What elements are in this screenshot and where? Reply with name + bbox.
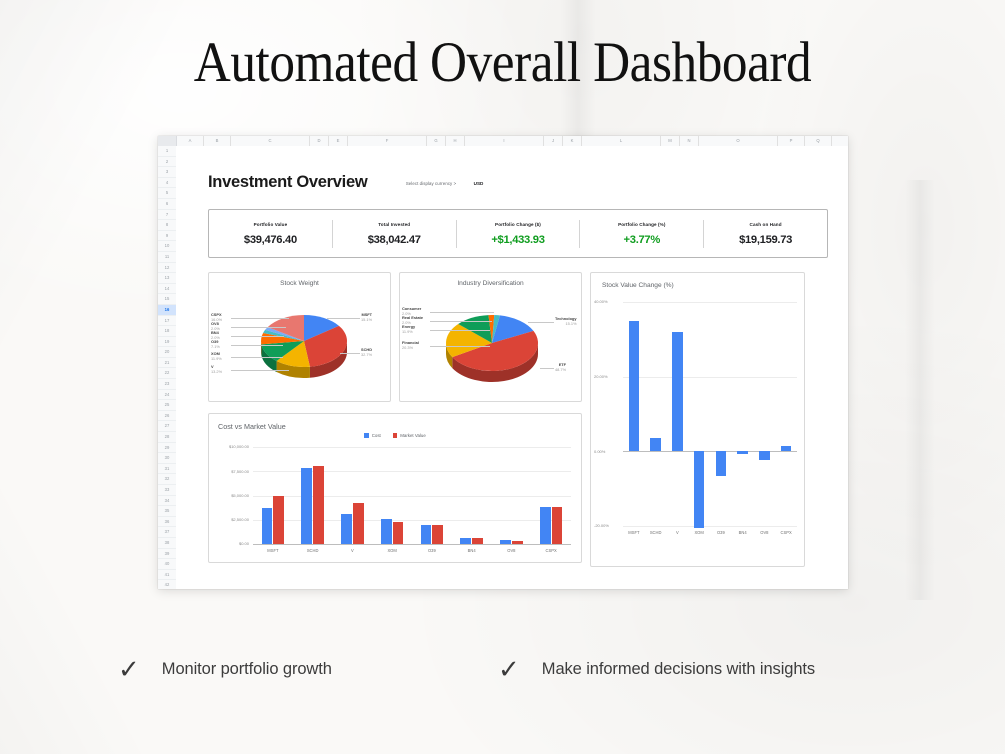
pie-label-percent: 15.1% <box>555 322 577 327</box>
x-axis-tick-label: XOM <box>372 548 412 553</box>
row-header-6[interactable]: 6 <box>158 199 176 210</box>
x-axis-tick-label: V <box>333 548 373 553</box>
bar-XOM[interactable] <box>694 451 704 528</box>
x-axis-tick-label: XOM <box>688 530 710 535</box>
column-header-Q[interactable]: Q <box>805 136 832 146</box>
chart-title-stock-weight: Stock Weight <box>209 280 390 287</box>
kpi-label: Cash on Hand <box>704 222 827 227</box>
row-header-25[interactable]: 25 <box>158 400 176 411</box>
dashboard-content: Investment Overview Select display curre… <box>208 172 828 567</box>
kpi-value: +3.77% <box>580 234 703 246</box>
bar-MSFT-cost[interactable] <box>262 508 273 544</box>
pie-leader-line <box>231 327 286 328</box>
row-header-18[interactable]: 18 <box>158 326 176 337</box>
pie-label-o39: O397.1% <box>211 340 220 349</box>
column-header-J[interactable]: J <box>544 136 563 146</box>
row-header-24[interactable]: 24 <box>158 390 176 401</box>
bar-XOM-market-value[interactable] <box>393 522 404 544</box>
row-header-40[interactable]: 40 <box>158 559 176 570</box>
x-axis-tick-label: OV8 <box>492 548 532 553</box>
pie-chart-stock-weight[interactable]: CSPX16.0%OV82.0%BN42.0%O397.1%XOM11.9%V1… <box>209 291 390 399</box>
y-axis-tick-label: $0.00 <box>213 541 249 546</box>
row-header-8[interactable]: 8 <box>158 220 176 231</box>
kpi-card-2: Portfolio Change ($)+$1,433.93 <box>457 220 581 248</box>
currency-selector[interactable]: Select display currency > USD <box>406 172 484 193</box>
bar-OV8-cost[interactable] <box>500 540 511 544</box>
row-header-7[interactable]: 7 <box>158 210 176 221</box>
y-axis-tick-label: $7,500.00 <box>213 469 249 474</box>
bar-BN4-cost[interactable] <box>460 538 471 544</box>
pie-leader-line <box>528 322 554 323</box>
bullet-item: ✓ Make informed decisions with insights <box>498 656 815 682</box>
bar-V-cost[interactable] <box>341 514 352 544</box>
kpi-card-0: Portfolio Value$39,476.40 <box>209 220 333 248</box>
pie-label-etf: ETF48.7% <box>555 363 566 372</box>
kpi-value: +$1,433.93 <box>457 234 580 246</box>
x-axis-tick-label: CSPX <box>775 530 797 535</box>
bar-BN4[interactable] <box>737 451 747 454</box>
kpi-label: Portfolio Value <box>209 222 332 227</box>
column-header-A[interactable]: A <box>177 136 204 146</box>
bullet-item: ✓ Monitor portfolio growth <box>118 656 332 682</box>
pie-label-energy: Energy11.9% <box>402 325 415 334</box>
row-header-38[interactable]: 38 <box>158 538 176 549</box>
row-header-26[interactable]: 26 <box>158 411 176 422</box>
chart-card-cost-vs-market[interactable]: Cost vs Market Value CostMarket Value $0… <box>208 413 582 563</box>
dashboard-header-row: Investment Overview Select display curre… <box>208 172 828 193</box>
y-axis-tick-label: -20.00% <box>594 523 609 528</box>
kpi-card-3: Portfolio Change (%)+3.77% <box>580 220 704 248</box>
column-header-O[interactable]: O <box>699 136 778 146</box>
row-header-13[interactable]: 13 <box>158 273 176 284</box>
pie-label-financial: Financial20.3% <box>402 341 419 350</box>
bar-chart-cost-vs-market[interactable]: $0.00$2,500.00$5,000.00$7,500.00$10,000.… <box>209 414 581 562</box>
kpi-label: Total Invested <box>333 222 456 227</box>
sheet-grid[interactable]: Investment Overview Select display curre… <box>176 146 848 589</box>
x-axis-tick-label: O39 <box>710 530 732 535</box>
bar-CSPX-market-value[interactable] <box>552 507 563 544</box>
row-header-33[interactable]: 33 <box>158 485 176 496</box>
pie-leader-line <box>231 318 289 319</box>
chart-card-stock-value-change[interactable]: Stock Value Change (%) 40.00%20.00%0.00%… <box>590 272 805 567</box>
x-axis-tick-label: BN4 <box>452 548 492 553</box>
column-header-R[interactable]: R <box>832 136 848 146</box>
y-axis-tick-label: 40.00% <box>594 299 608 304</box>
row-header-34[interactable]: 34 <box>158 496 176 507</box>
row-header-4[interactable]: 4 <box>158 178 176 189</box>
pie-label-percent: 20.3% <box>402 346 419 351</box>
column-header-K[interactable]: K <box>563 136 582 146</box>
bar-CSPX[interactable] <box>781 446 791 452</box>
column-header-F[interactable]: F <box>348 136 427 146</box>
column-header-M[interactable]: M <box>661 136 680 146</box>
row-header-39[interactable]: 39 <box>158 549 176 560</box>
row-header-3[interactable]: 3 <box>158 167 176 178</box>
pie-label-technology: Technology15.1% <box>555 317 577 326</box>
pie-leader-line <box>430 330 490 331</box>
bar-CSPX-cost[interactable] <box>540 507 551 544</box>
row-header-22[interactable]: 22 <box>158 368 176 379</box>
dashboard-heading: Investment Overview <box>208 173 367 192</box>
pie-label-percent: 13.2% <box>211 370 222 375</box>
kpi-value: $19,159.73 <box>704 234 827 246</box>
row-header-9[interactable]: 9 <box>158 231 176 242</box>
x-axis-tick-label: O39 <box>412 548 452 553</box>
bar-MSFT-market-value[interactable] <box>273 496 284 544</box>
kpi-label: Portfolio Change (%) <box>580 222 703 227</box>
y-axis-tick-label: $5,000.00 <box>213 493 249 498</box>
row-header-17[interactable]: 17 <box>158 316 176 327</box>
pie-leader-line <box>540 368 554 369</box>
column-header-D[interactable]: D <box>310 136 329 146</box>
x-axis-tick-label: MSFT <box>253 548 293 553</box>
column-header-G[interactable]: G <box>427 136 446 146</box>
pie-leader-line <box>430 312 494 313</box>
x-axis-tick-label: V <box>667 530 689 535</box>
gridline <box>623 526 797 527</box>
pie-leader-line <box>231 357 283 358</box>
pie-label-percent: 15.1% <box>361 318 372 323</box>
row-header-27[interactable]: 27 <box>158 421 176 432</box>
row-header-5[interactable]: 5 <box>158 188 176 199</box>
row-header-16[interactable]: 16 <box>158 305 176 316</box>
bar-OV8-market-value[interactable] <box>512 541 523 544</box>
row-header-31[interactable]: 31 <box>158 464 176 475</box>
pie-leader-line <box>340 353 360 354</box>
chart-card-stock-weight[interactable]: Stock Weight CSPX16.0%OV82.0%BN42.0%O397… <box>208 272 391 402</box>
check-icon: ✓ <box>118 656 140 682</box>
bar-OV8[interactable] <box>759 451 769 459</box>
column-header-N[interactable]: N <box>680 136 699 146</box>
pie-leader-line <box>327 318 360 319</box>
y-axis-tick-label: 0.00% <box>594 449 605 454</box>
pie-svg <box>400 291 581 399</box>
bullet-text: Make informed decisions with insights <box>542 660 815 679</box>
row-header-19[interactable]: 19 <box>158 337 176 348</box>
pie-label-percent: 7.1% <box>211 345 220 350</box>
row-header-35[interactable]: 35 <box>158 506 176 517</box>
column-header-C[interactable]: C <box>231 136 310 146</box>
pie-leader-line <box>430 346 490 347</box>
pie-chart-industry-diversification[interactable]: Consumer2.0%Real Estate2.0%Energy11.9%Fi… <box>400 291 581 399</box>
bar-BN4-market-value[interactable] <box>472 538 483 544</box>
pie-label-v: V13.2% <box>211 365 222 374</box>
kpi-card-4: Cash on Hand$19,159.73 <box>704 220 827 248</box>
x-axis-tick-label: CSPX <box>531 548 571 553</box>
column-header-I[interactable]: I <box>465 136 544 146</box>
column-header-B[interactable]: B <box>204 136 231 146</box>
row-header-2[interactable]: 2 <box>158 157 176 168</box>
paper-crease <box>905 180 935 600</box>
y-axis-tick-label: 20.00% <box>594 374 608 379</box>
pie-label-percent: 32.7% <box>361 353 372 358</box>
bar-SCHD-market-value[interactable] <box>313 466 324 544</box>
gridline <box>623 302 797 303</box>
bar-XOM-cost[interactable] <box>381 519 392 544</box>
gridline <box>623 377 797 378</box>
row-header-20[interactable]: 20 <box>158 347 176 358</box>
row-header-21[interactable]: 21 <box>158 358 176 369</box>
pie-label-xom: XOM11.9% <box>211 352 222 361</box>
row-header-37[interactable]: 37 <box>158 527 176 538</box>
chart-card-industry-diversification[interactable]: Industry Diversification Consumer2.0%Rea… <box>399 272 582 402</box>
currency-selector-value[interactable]: USD <box>474 181 484 186</box>
bullet-text: Monitor portfolio growth <box>162 660 332 679</box>
row-header-12[interactable]: 12 <box>158 263 176 274</box>
pie-leader-line <box>430 321 492 322</box>
spreadsheet-window[interactable]: ABCDEFGHIJKLMNOPQRS 12345678910111213141… <box>158 136 848 589</box>
bar-V[interactable] <box>672 332 682 451</box>
select-all-corner[interactable] <box>158 136 177 146</box>
column-header-H[interactable]: H <box>446 136 465 146</box>
y-axis-tick-label: $10,000.00 <box>213 444 249 449</box>
row-header-42[interactable]: 42 <box>158 580 176 589</box>
row-header-30[interactable]: 30 <box>158 453 176 464</box>
row-header-41[interactable]: 41 <box>158 570 176 581</box>
bar-SCHD-cost[interactable] <box>301 468 312 544</box>
x-axis-tick-label: SCHD <box>293 548 333 553</box>
page-title: Automated Overall Dashboard <box>50 30 955 95</box>
pie-label-schd: SCHD32.7% <box>361 348 372 357</box>
row-header-11[interactable]: 11 <box>158 252 176 263</box>
pie-label-msft: MSFT15.1% <box>361 313 372 322</box>
chart-title-industry-diversification: Industry Diversification <box>400 280 581 287</box>
column-header-E[interactable]: E <box>329 136 348 146</box>
pie-leader-line <box>231 345 283 346</box>
check-icon: ✓ <box>498 656 520 682</box>
row-header-column[interactable]: 1234567891011121314151617181920212223242… <box>158 146 177 589</box>
row-header-28[interactable]: 28 <box>158 432 176 443</box>
column-header-L[interactable]: L <box>582 136 661 146</box>
row-header-32[interactable]: 32 <box>158 474 176 485</box>
row-header-15[interactable]: 15 <box>158 294 176 305</box>
bar-O39-market-value[interactable] <box>432 525 443 544</box>
column-header-P[interactable]: P <box>778 136 805 146</box>
bullet-list: ✓ Monitor portfolio growth ✓ Make inform… <box>0 652 1005 698</box>
kpi-value: $38,042.47 <box>333 234 456 246</box>
row-header-10[interactable]: 10 <box>158 241 176 252</box>
bar-O39-cost[interactable] <box>421 525 432 544</box>
zero-axis-line <box>253 544 571 545</box>
bar-SCHD[interactable] <box>650 438 660 451</box>
zero-axis-line <box>623 451 797 452</box>
x-axis-tick-label: SCHD <box>645 530 667 535</box>
bar-O39[interactable] <box>716 451 726 475</box>
pie-label-percent: 11.9% <box>211 357 222 362</box>
pie-leader-line <box>231 370 289 371</box>
kpi-summary-bar: Portfolio Value$39,476.40Total Invested$… <box>208 209 828 258</box>
charts-row: Stock Weight CSPX16.0%OV82.0%BN42.0%O397… <box>208 272 828 567</box>
kpi-value: $39,476.40 <box>209 234 332 246</box>
pie-label-percent: 48.7% <box>555 368 566 373</box>
row-header-1[interactable]: 1 <box>158 146 176 157</box>
gridline <box>253 447 571 448</box>
x-axis-tick-label: MSFT <box>623 530 645 535</box>
bar-V-market-value[interactable] <box>353 503 364 544</box>
pie-label-percent: 11.9% <box>402 330 415 335</box>
pie-leader-line <box>231 336 284 337</box>
x-axis-tick-label: BN4 <box>732 530 754 535</box>
row-header-14[interactable]: 14 <box>158 284 176 295</box>
bar-chart-stock-value-change[interactable]: 40.00%20.00%0.00%-20.00%MSFTSCHDVXOMO39B… <box>591 273 804 566</box>
kpi-label: Portfolio Change ($) <box>457 222 580 227</box>
row-header-36[interactable]: 36 <box>158 517 176 528</box>
currency-selector-label: Select display currency > <box>406 181 456 186</box>
kpi-card-1: Total Invested$38,042.47 <box>333 220 457 248</box>
row-header-29[interactable]: 29 <box>158 443 176 454</box>
y-axis-tick-label: $2,500.00 <box>213 517 249 522</box>
bar-MSFT[interactable] <box>629 321 639 452</box>
x-axis-tick-label: OV8 <box>754 530 776 535</box>
row-header-23[interactable]: 23 <box>158 379 176 390</box>
